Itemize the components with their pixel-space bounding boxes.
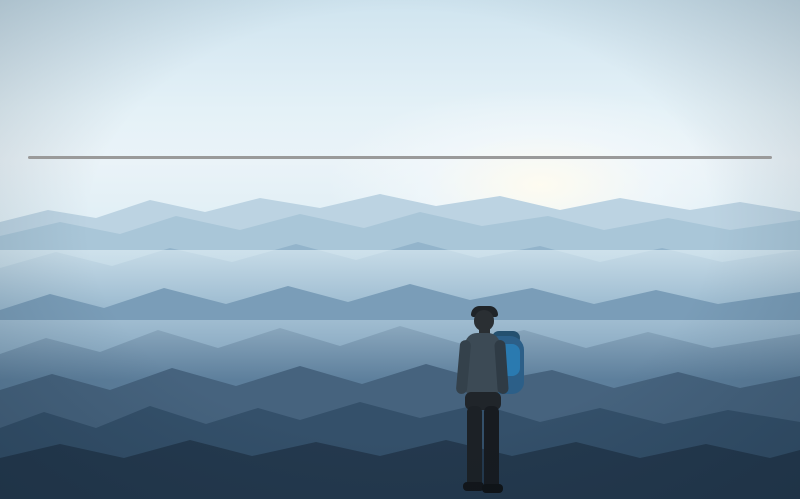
timeline-axis: [28, 156, 772, 159]
background-photo: [0, 0, 800, 499]
vignette-overlay: [0, 0, 800, 499]
timeline-infographic: [0, 0, 800, 499]
